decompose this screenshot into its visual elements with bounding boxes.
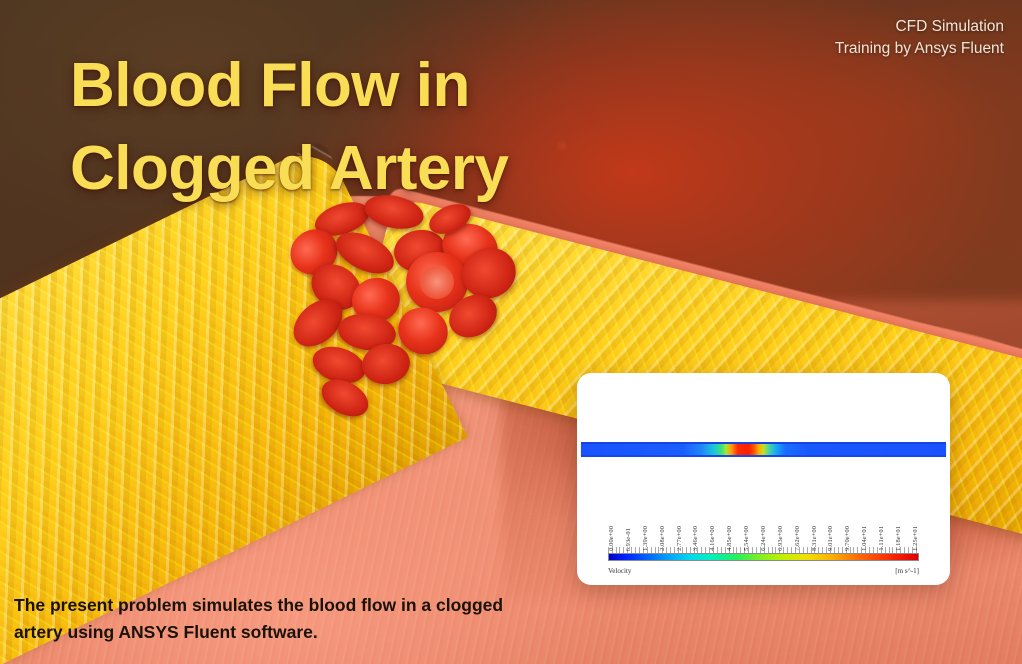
red-blood-cell (315, 372, 374, 424)
header-credit: CFD Simulation Training by Ansys Fluent (835, 16, 1004, 61)
velocity-contour-plot (577, 437, 950, 463)
red-blood-cell-cluster (290, 196, 570, 446)
colorbar-field-label: Velocity (608, 567, 631, 575)
page-title: Blood Flow in Clogged Artery (70, 44, 690, 210)
cfd-result-card[interactable]: 0.00e+006.93e-011.39e+002.08e+002.77e+00… (577, 373, 950, 585)
colorbar-footer: Velocity [m s^-1] (608, 567, 919, 575)
header-line-1: CFD Simulation (835, 16, 1004, 38)
artery-boundary-bottom (581, 455, 946, 457)
page-title-line-1: Blood Flow in (70, 51, 470, 120)
header-line-2: Training by Ansys Fluent (835, 38, 1004, 60)
poster-canvas: CFD Simulation Training by Ansys Fluent … (0, 0, 1022, 664)
colorbar-tick-labels: 0.00e+006.93e-011.39e+002.08e+002.77e+00… (608, 503, 919, 551)
colorbar-block: 0.00e+006.93e-011.39e+002.08e+002.77e+00… (577, 503, 950, 585)
colorbar-units-label: [m s^-1] (895, 567, 919, 575)
colorbar-gradient (608, 553, 919, 561)
page-title-line-2: Clogged Artery (70, 127, 690, 210)
poster-caption: The present problem simulates the blood … (14, 592, 534, 646)
velocity-contour-field (581, 444, 946, 455)
